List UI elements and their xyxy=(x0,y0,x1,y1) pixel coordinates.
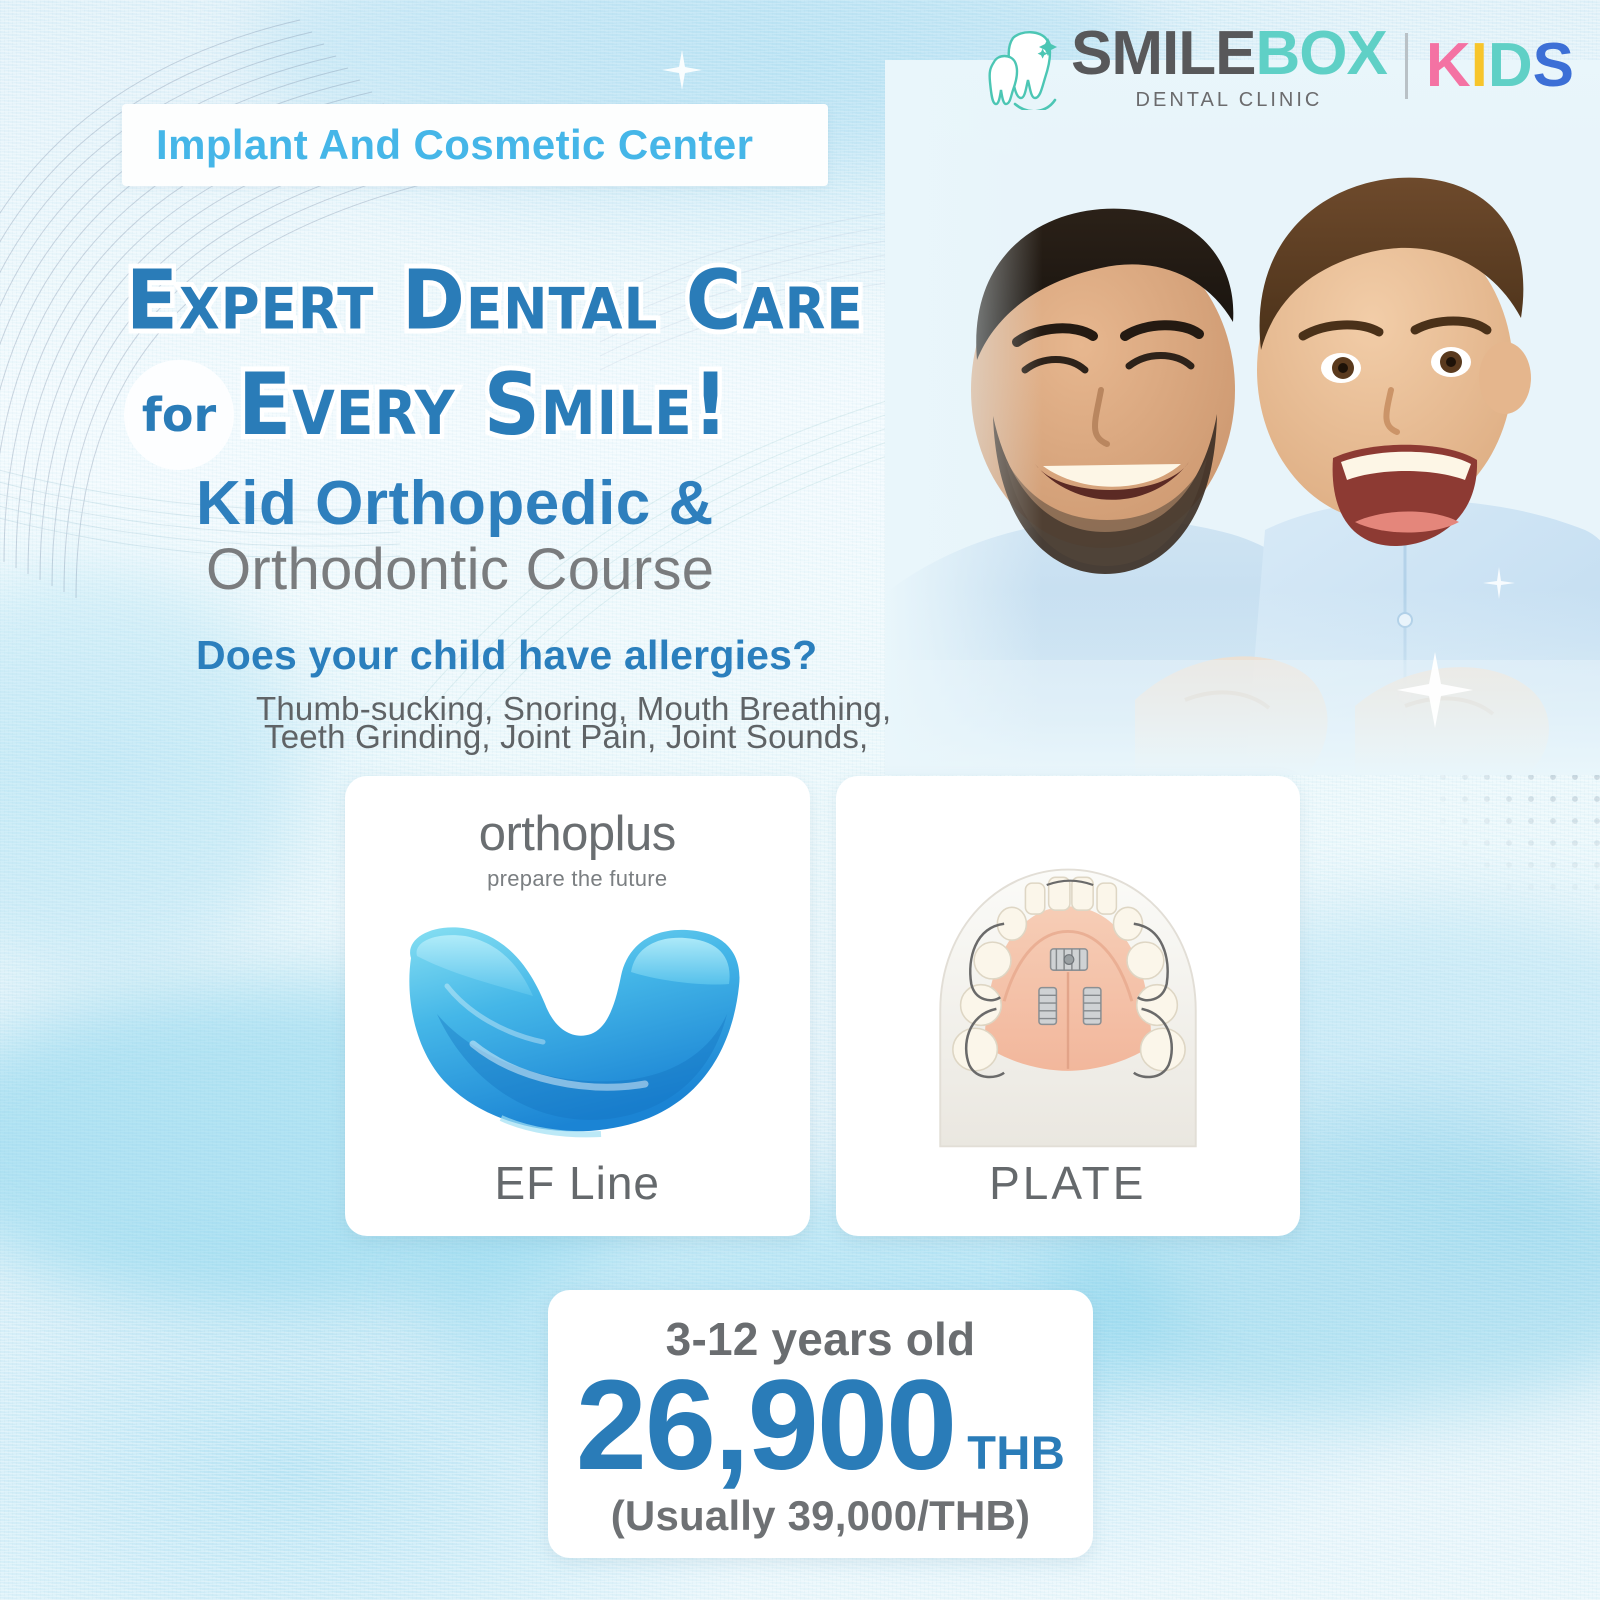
expansion-plate-icon xyxy=(903,856,1233,1156)
product-cards: orthoplus prepare the future xyxy=(345,776,1300,1236)
product-label-plate: PLATE xyxy=(989,1156,1146,1210)
logo-wordmark: SMILEBOX DENTAL CLINIC xyxy=(1071,23,1387,110)
family-photo xyxy=(885,60,1600,775)
headline-for-badge: for xyxy=(124,360,234,470)
price-usual: (Usually 39,000/THB) xyxy=(611,1492,1031,1540)
headline-line-1: Expert Dental Care xyxy=(126,252,864,348)
product-label-ef-line: EF Line xyxy=(494,1156,660,1210)
kids-letter-d: D xyxy=(1488,31,1533,100)
kids-letter-s: S xyxy=(1533,31,1574,100)
subtitle-line-1: Kid Orthopedic & xyxy=(196,468,714,539)
expansion-screw xyxy=(1039,988,1056,1025)
subtitle-line-2: Orthodontic Course xyxy=(206,536,714,603)
brand-logo[interactable]: SMILEBOX DENTAL CLINIC KIDS xyxy=(985,22,1574,110)
headline-line-2: Every Smile! xyxy=(238,356,729,455)
expansion-screw xyxy=(1050,949,1087,970)
logo-divider xyxy=(1405,33,1408,99)
logo-name-smile: SMILE xyxy=(1071,19,1255,88)
price-currency: THB xyxy=(967,1429,1065,1476)
product-brand: orthoplus prepare the future xyxy=(479,806,676,892)
product-image-ef-line xyxy=(345,892,810,1156)
tooth-icon xyxy=(985,22,1059,110)
price-main: 26,900 THB xyxy=(576,1362,1066,1490)
product-brand-tagline: prepare the future xyxy=(479,866,676,892)
headline-connector: for xyxy=(142,388,216,442)
logo-name-box: BOX xyxy=(1255,19,1386,88)
photo-edge-fade xyxy=(885,60,1600,775)
logo-name: SMILEBOX xyxy=(1071,23,1387,85)
price-amount: 26,900 xyxy=(576,1362,956,1490)
product-card-ef-line[interactable]: orthoplus prepare the future xyxy=(345,776,810,1236)
kids-letter-i: I xyxy=(1471,31,1488,100)
logo-tagline: DENTAL CLINIC xyxy=(1136,90,1323,110)
product-image-plate xyxy=(836,856,1301,1156)
banner-title: Implant And Cosmetic Center xyxy=(156,121,753,169)
poster-root: SMILEBOX DENTAL CLINIC KIDS Implant And … xyxy=(0,0,1600,1600)
logo-kids: KIDS xyxy=(1426,35,1574,97)
allergy-question: Does your child have allergies? xyxy=(196,632,817,679)
allergy-symptoms-line-2: Teeth Grinding, Joint Pain, Joint Sounds… xyxy=(264,718,868,756)
myofunctional-trainer-icon xyxy=(377,894,777,1154)
kids-letter-k: K xyxy=(1426,31,1471,100)
expansion-screw xyxy=(1083,988,1100,1025)
product-card-plate[interactable]: PLATE xyxy=(836,776,1301,1236)
product-brand-name: orthoplus xyxy=(479,806,676,862)
price-box: 3-12 years old 26,900 THB (Usually 39,00… xyxy=(548,1290,1093,1558)
banner-implant-cosmetic-center: Implant And Cosmetic Center xyxy=(122,104,828,186)
